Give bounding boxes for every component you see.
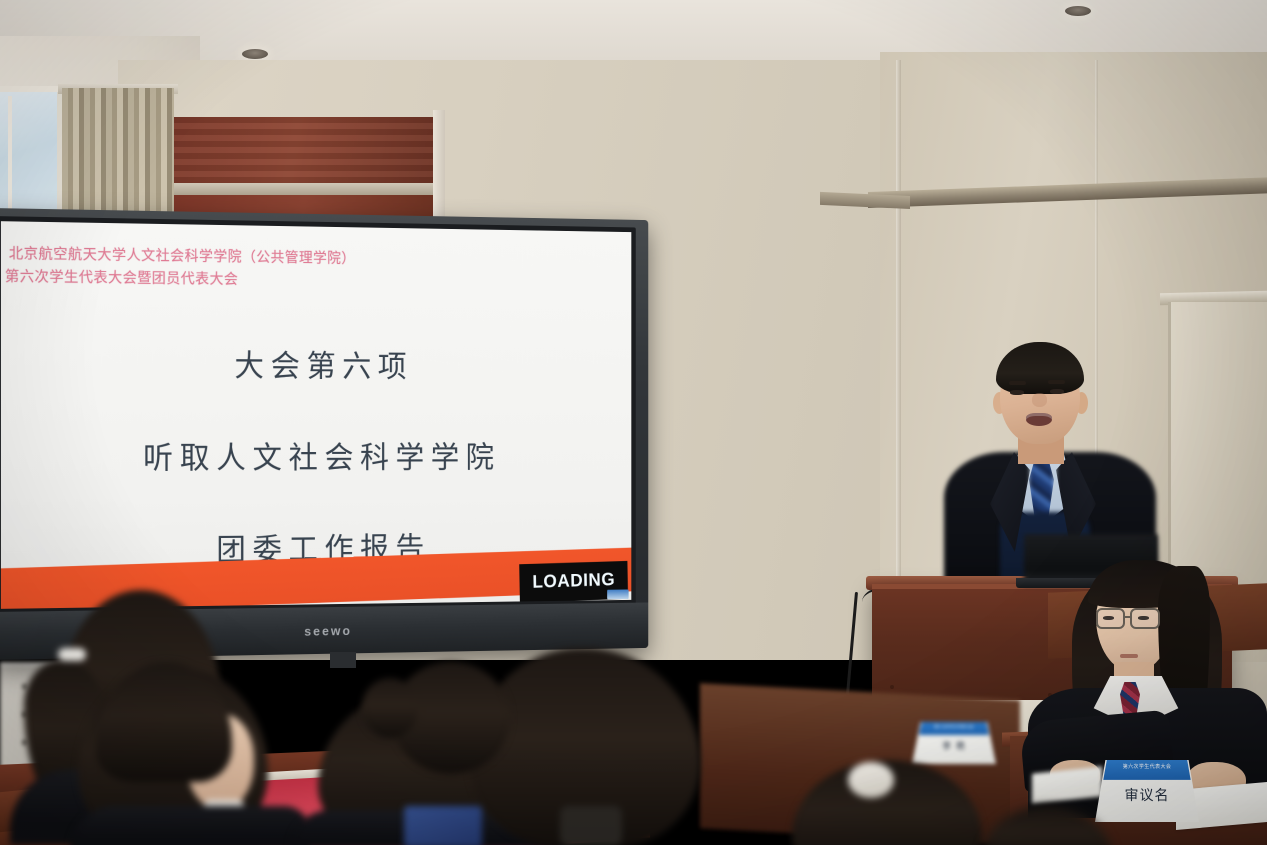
name-placard: 第六次学生代表大会 审议名	[1095, 760, 1199, 822]
placard-strip: 第六次学生代表大会	[919, 722, 990, 735]
panel-frame-right	[433, 110, 445, 228]
speaker-eye-right	[1050, 389, 1064, 394]
delegate-mouth	[1120, 654, 1138, 658]
held-folder[interactable]	[404, 806, 482, 845]
audience-nape	[560, 806, 622, 845]
photo-scene: 北京航空航天大学人文社会科学学院（公共管理学院） 第六次学生代表大会暨团员代表大…	[0, 0, 1267, 845]
name-placard: 第六次学生代表大会 李 艳	[912, 722, 996, 764]
seewo-display[interactable]: 北京航空航天大学人文社会科学学院（公共管理学院） 第六次学生代表大会暨团员代表大…	[0, 208, 648, 660]
display-bezel: 北京航空航天大学人文社会科学学院（公共管理学院） 第六次学生代表大会暨团员代表大…	[0, 216, 636, 614]
hair-tie	[58, 648, 86, 661]
speaker-brow-right	[1048, 380, 1065, 384]
slide-body-line-1: 大会第六项	[1, 339, 631, 387]
slide-body-line-2: 听取人文社会科学学院	[1, 433, 631, 478]
speaker-brow-left	[1009, 381, 1026, 385]
bezel-sticker	[607, 589, 628, 599]
slide-header: 北京航空航天大学人文社会科学学院（公共管理学院） 第六次学生代表大会暨团员代表大…	[9, 243, 623, 297]
placard-strip-text: 第六次学生代表大会	[1103, 763, 1190, 770]
speaker-mouth	[1026, 413, 1052, 426]
loading-badge-label: LOADING	[532, 570, 615, 594]
speaker-nose	[1032, 393, 1047, 407]
slide-body: 大会第六项 听取人文社会科学学院 团委工作报告	[1, 339, 631, 572]
glasses-icon	[1096, 608, 1125, 629]
placard-strip: 第六次学生代表大会	[1103, 760, 1190, 780]
downlight-icon	[242, 49, 268, 59]
hair-clip	[848, 762, 894, 798]
placard-name: 李 艳	[912, 739, 996, 752]
glasses-bridge	[1124, 616, 1132, 618]
display-stand	[330, 652, 356, 668]
audience-shoulders	[70, 806, 310, 845]
glasses-icon	[1130, 608, 1160, 629]
speaker-eye-left	[1010, 390, 1024, 395]
presentation-slide: 北京航空航天大学人文社会科学学院（公共管理学院） 第六次学生代表大会暨团员代表大…	[1, 221, 631, 609]
audience-hair-bun	[362, 678, 418, 738]
placard-name: 审议名	[1095, 785, 1199, 805]
downlight-icon	[1065, 6, 1091, 16]
placard-strip-text: 第六次学生代表大会	[919, 724, 990, 730]
